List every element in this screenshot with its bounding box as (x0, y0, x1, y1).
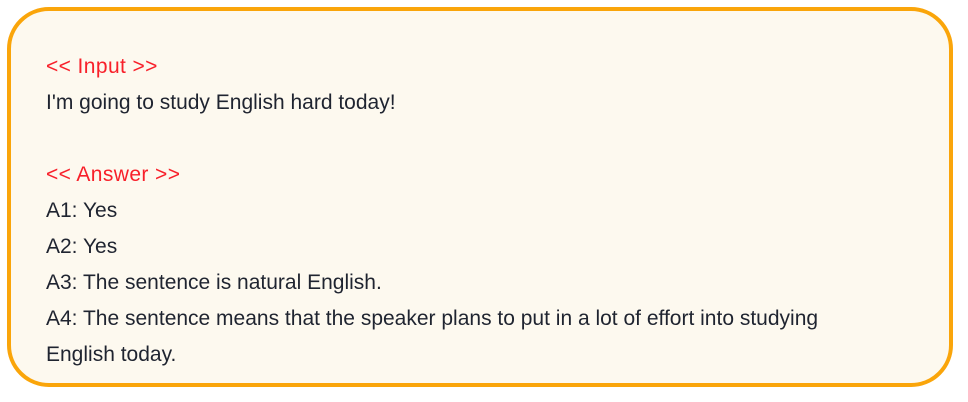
answer-line-a1: A1: Yes (46, 193, 919, 229)
input-sentence: I'm going to study English hard today! (46, 85, 919, 121)
answer-section-heading: << Answer >> (46, 157, 919, 193)
answer-line-a4: A4: The sentence means that the speaker … (46, 301, 846, 373)
answer-line-a3: A3: The sentence is natural English. (46, 265, 919, 301)
answer-line-a2: A2: Yes (46, 229, 919, 265)
card-body: << Input >> I'm going to study English h… (11, 11, 949, 373)
input-section-heading: << Input >> (46, 49, 919, 85)
section-spacer (46, 121, 919, 157)
answer-card: << Input >> I'm going to study English h… (7, 7, 953, 387)
